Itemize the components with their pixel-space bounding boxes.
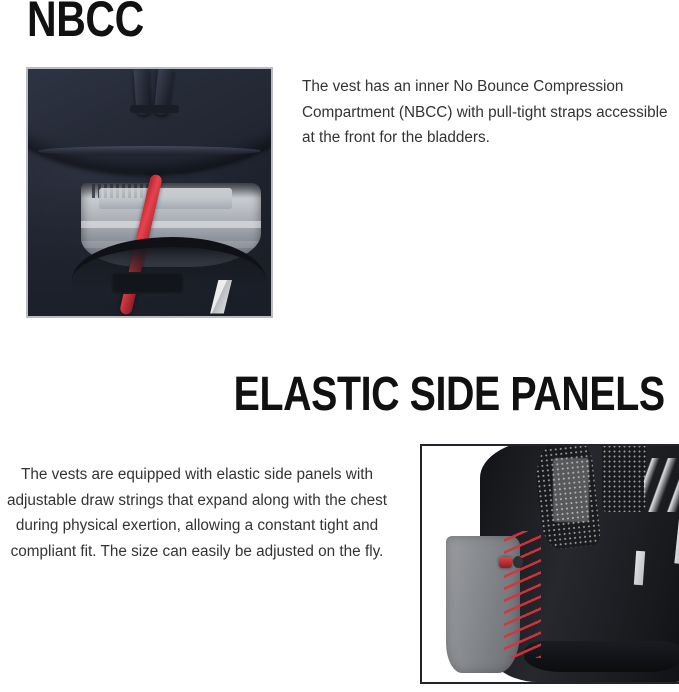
section-heading-elastic-side-panels: ELASTIC SIDE PANELS: [234, 371, 665, 419]
section-heading-nbcc: NBCC: [27, 0, 144, 44]
mesh-pocket-panel: [532, 444, 601, 551]
draw-string-cord: [504, 531, 541, 658]
strap-bridge: [130, 105, 179, 113]
elastic-side-panel-photo: [420, 444, 679, 684]
bladder-highlight-band: [81, 221, 261, 228]
bladder-body: [99, 188, 232, 210]
vest-seam: [38, 146, 262, 156]
vest-hem: [524, 641, 679, 673]
reflective-strip: [674, 511, 679, 564]
vest-neckline: [26, 67, 273, 173]
velcro-closure: [111, 272, 184, 294]
reflective-strip: [634, 550, 645, 585]
section-body-elastic-side-panels: The vests are equipped with elastic side…: [2, 462, 392, 564]
cord-toggle: [513, 556, 523, 568]
section-body-nbcc: The vest has an inner No Bounce Compress…: [302, 74, 679, 151]
nbcc-compartment-photo: [26, 67, 273, 318]
mesh-back-panel: [602, 444, 646, 512]
cord-lock: [499, 557, 512, 568]
product-feature-infographic: NBCC The vest has an inner No Bounce Com…: [0, 0, 679, 692]
brand-wordmark: [644, 458, 679, 511]
